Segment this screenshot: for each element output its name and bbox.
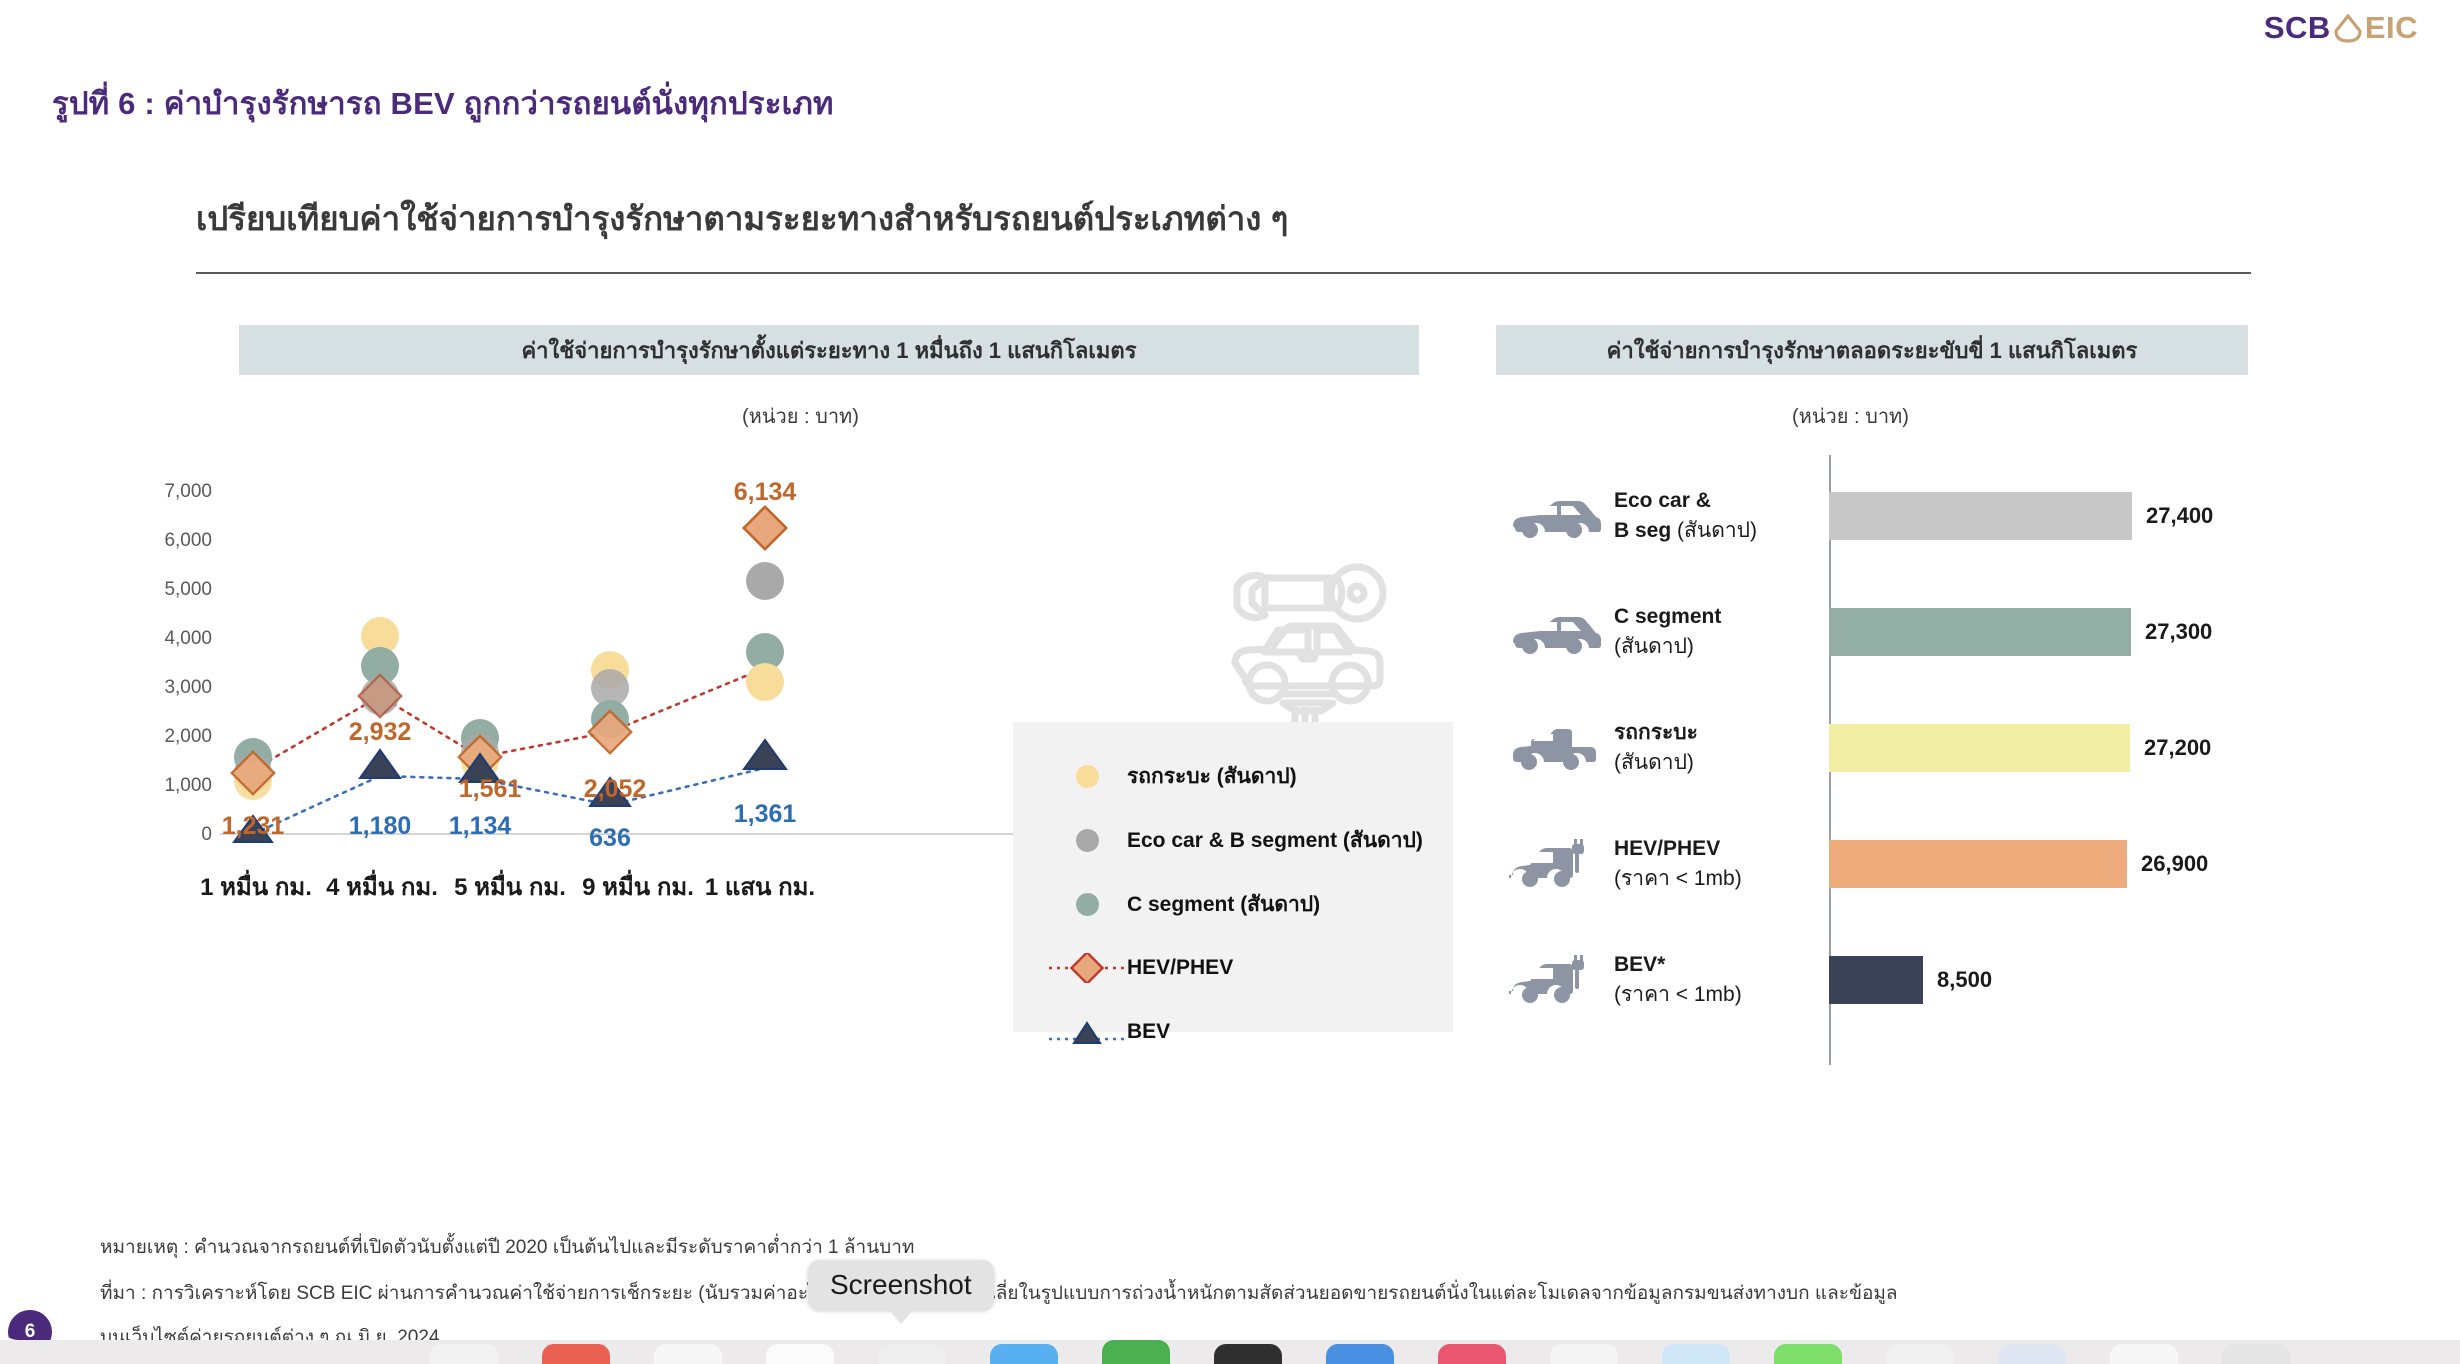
legend-label: HEV/PHEV	[1127, 956, 1233, 980]
bar-label: Eco car & B seg (สันดาป)	[1614, 486, 1829, 547]
subtitle-divider	[196, 272, 2251, 274]
dock-icon-3[interactable]	[654, 1344, 722, 1364]
bar-row-bev: BEV* (ราคา < 1mb) 8,500	[1496, 919, 2256, 1041]
legend-label: C segment (สันดาป)	[1127, 888, 1320, 921]
bar-track: 27,300	[1829, 571, 2256, 693]
dock-icon-10[interactable]	[1438, 1344, 1506, 1364]
footnote-source-line1: ที่มา : การวิเคราะห์โดย SCB EIC ผ่านการค…	[100, 1278, 1898, 1308]
legend-item-pickup: รถกระบะ (สันดาป)	[1047, 744, 1453, 808]
dock-icon-1[interactable]	[430, 1344, 498, 1364]
bev-triangle-icon	[1047, 1017, 1127, 1047]
dock-icon-12[interactable]	[1662, 1344, 1730, 1364]
xtick-4: 9 หมื่น กม.	[582, 869, 694, 901]
value-label-hev-3: 1,561	[459, 775, 522, 803]
scb-eic-logo: SCB EIC	[2264, 10, 2418, 46]
eco-b-dot-icon	[1047, 829, 1127, 852]
point-bev	[360, 750, 400, 778]
bar-track: 27,200	[1829, 687, 2256, 809]
xtick-2: 4 หมื่น กม.	[326, 869, 438, 901]
system-dock[interactable]	[0, 1340, 2460, 1364]
point-hev-phev	[744, 507, 786, 549]
point-pickup	[746, 663, 784, 701]
total-maintenance-bar-chart: Eco car & B seg (สันดาป) 27,400 C se	[1496, 455, 2256, 1065]
slide-canvas: SCB EIC รูปที่ 6 : ค่าบำรุงรักษารถ BEV ถ…	[0, 0, 2460, 1340]
legend-item-hev-phev: HEV/PHEV	[1047, 936, 1453, 1000]
page-title: รูปที่ 6 : ค่าบำรุงรักษารถ BEV ถูกกว่ารถ…	[52, 78, 834, 128]
chart-legend: รถกระบะ (สันดาป) Eco car & B segment (สั…	[1013, 722, 1453, 1032]
hev-phev-diamond-icon	[1047, 953, 1127, 983]
bar-fill	[1829, 840, 2127, 888]
subtitle: เปรียบเทียบค่าใช้จ่ายการบำรุงรักษาตามระย…	[196, 192, 1288, 245]
bar-value: 27,300	[2145, 619, 2212, 645]
ev-plug-icon	[1496, 955, 1614, 1005]
xtick-5: 1 แสน กม.	[705, 874, 815, 901]
dock-icon-4[interactable]	[766, 1344, 834, 1364]
ytick-7000: 7,000	[164, 481, 212, 502]
right-panel-header: ค่าใช้จ่ายการบำรุงรักษาตลอดระยะขับขี่ 1 …	[1496, 325, 2248, 375]
point-bev	[744, 740, 786, 769]
logo-eic-text: EIC	[2365, 10, 2418, 46]
ytick-4000: 4,000	[164, 628, 212, 649]
c-segment-dot-icon	[1047, 893, 1127, 916]
bar-label: C segment (สันดาป)	[1614, 602, 1829, 663]
dock-icon-2[interactable]	[542, 1344, 610, 1364]
droplet-icon	[2333, 12, 2363, 44]
value-label-bev-3: 1,134	[449, 812, 512, 840]
bar-fill	[1829, 724, 2130, 772]
ytick-5000: 5,000	[164, 579, 212, 600]
sedan-icon	[1496, 493, 1614, 539]
bar-track: 27,400	[1829, 455, 2256, 577]
pickup-icon	[1496, 725, 1614, 771]
ytick-0: 0	[201, 824, 212, 845]
bar-value: 26,900	[2141, 851, 2208, 877]
bar-track: 26,900	[1829, 803, 2256, 925]
dock-icon-8[interactable]	[1214, 1344, 1282, 1364]
bar-fill	[1829, 492, 2132, 540]
ytick-3000: 3,000	[164, 677, 212, 698]
value-label-bev-2: 1,180	[349, 812, 412, 840]
ev-plug-icon	[1496, 839, 1614, 889]
bar-label: HEV/PHEV (ราคา < 1mb)	[1614, 834, 1829, 895]
xtick-1: 1 หมื่น กม.	[200, 869, 312, 901]
bar-track: 8,500	[1829, 919, 2256, 1041]
ytick-1000: 1,000	[164, 775, 212, 796]
dock-icon-9[interactable]	[1326, 1344, 1394, 1364]
dock-icon-7[interactable]	[1102, 1340, 1170, 1364]
point-eco-b	[746, 562, 784, 600]
bar-fill	[1829, 956, 1923, 1004]
bar-value: 8,500	[1937, 967, 1992, 993]
dock-icon-15[interactable]	[1998, 1344, 2066, 1364]
bar-fill	[1829, 608, 2131, 656]
legend-item-c-segment: C segment (สันดาป)	[1047, 872, 1453, 936]
bar-value: 27,400	[2146, 503, 2213, 529]
bar-label: BEV* (ราคา < 1mb)	[1614, 950, 1829, 1011]
footnote-note: หมายเหตุ : คำนวณจากรถยนต์ที่เปิดตัวนับตั…	[100, 1232, 914, 1262]
page-number-badge: 6	[8, 1310, 52, 1340]
legend-label: BEV	[1127, 1020, 1170, 1044]
logo-scb-text: SCB	[2264, 10, 2331, 46]
hev-phev-line	[253, 668, 765, 770]
dock-icon-14[interactable]	[1886, 1344, 1954, 1364]
dock-icon-13[interactable]	[1774, 1344, 1842, 1364]
dock-icon-5[interactable]	[878, 1344, 946, 1364]
xtick-3: 5 หมื่น กม.	[454, 869, 566, 901]
value-label-bev-5: 1,361	[734, 800, 797, 828]
legend-label: Eco car & B segment (สันดาป)	[1127, 824, 1423, 857]
dock-icon-11[interactable]	[1550, 1344, 1618, 1364]
legend-item-eco-b: Eco car & B segment (สันดาป)	[1047, 808, 1453, 872]
bar-row-pickup: รถกระบะ (สันดาป) 27,200	[1496, 687, 2256, 809]
value-label-bev-4: 636	[589, 824, 631, 852]
dock-icon-6[interactable]	[990, 1344, 1058, 1364]
dock-icon-17[interactable]	[2222, 1344, 2290, 1364]
bar-row-c-segment: C segment (สันดาป) 27,300	[1496, 571, 2256, 693]
legend-label: รถกระบะ (สันดาป)	[1127, 760, 1297, 793]
bar-row-hev-phev: HEV/PHEV (ราคา < 1mb) 26,900	[1496, 803, 2256, 925]
left-panel-unit: (หน่วย : บาท)	[742, 400, 859, 432]
value-label-hev-4: 2,052	[584, 775, 647, 803]
bar-row-eco-b: Eco car & B seg (สันดาป) 27,400	[1496, 455, 2256, 577]
bar-label: รถกระบะ (สันดาป)	[1614, 718, 1829, 779]
ytick-6000: 6,000	[164, 530, 212, 551]
value-label-hev-5: 6,134	[734, 478, 797, 506]
ytick-2000: 2,000	[164, 726, 212, 747]
value-label-hev-2: 2,932	[349, 718, 412, 746]
pickup-dot-icon	[1047, 765, 1127, 788]
footnote-source-line2: บนเว็บไซต์ค่ายรถยนต์ต่าง ๆ ณ มิ.ย. 2024	[100, 1322, 439, 1340]
right-panel-unit: (หน่วย : บาท)	[1792, 400, 1909, 432]
point-hev-phev	[359, 675, 401, 717]
bar-value: 27,200	[2144, 735, 2211, 761]
screenshot-tooltip: Screenshot	[808, 1260, 994, 1310]
dock-icon-16[interactable]	[2110, 1344, 2178, 1364]
left-panel-header: ค่าใช้จ่ายการบำรุงรักษาตั้งแต่ระยะทาง 1 …	[239, 325, 1419, 375]
value-label-hev-1: 1,231	[222, 812, 285, 840]
sedan-icon	[1496, 609, 1614, 655]
legend-item-bev: BEV	[1047, 1000, 1453, 1064]
